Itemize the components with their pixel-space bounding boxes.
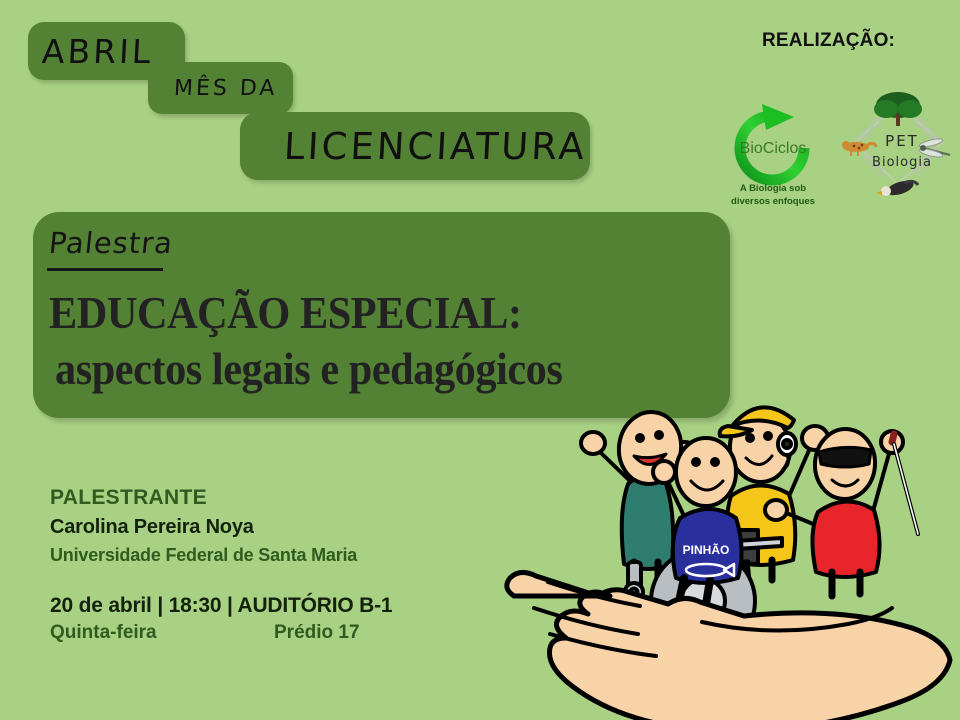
- biociclos-tagline-line2: diversos enfoques: [731, 196, 815, 207]
- pet-biologia-logo: PET Biologia: [838, 88, 958, 198]
- palestrante-section-label: PALESTRANTE: [50, 486, 490, 511]
- illustration-svg: PINHÃO: [488, 386, 960, 720]
- header-tab-mes-da-label: MÊS DA: [147, 76, 278, 101]
- event-detail-row: Quinta-feira Prédio 17: [50, 622, 490, 644]
- bird-icon: [876, 178, 918, 198]
- speaker-info-block: PALESTRANTE Carolina Pereira Noya Univer…: [50, 486, 490, 644]
- event-building: Prédio 17: [274, 622, 360, 644]
- realizacao-label: REALIZAÇÃO:: [762, 30, 895, 52]
- talk-title-line-1: EDUCAÇÃO ESPECIAL:: [49, 286, 522, 339]
- event-weekday: Quinta-feira: [50, 622, 274, 644]
- jaguar-icon: [842, 141, 876, 156]
- biociclos-tagline-line1: A Biologia sob: [740, 183, 806, 194]
- pet-wordmark-line2: Biologia: [872, 155, 932, 170]
- biociclos-logo-svg: BioCiclos A Biologia sob diversos enfoqu…: [718, 96, 828, 211]
- talk-title-line-2: aspectos legais e pedagógicos: [55, 342, 562, 395]
- speaker-organization: Universidade Federal de Santa Maria: [50, 543, 490, 567]
- header-tab-mes-da: MÊS DA: [148, 62, 293, 114]
- speaker-name: Carolina Pereira Noya: [50, 514, 490, 541]
- illustration-hand-holding-people: PINHÃO: [488, 386, 960, 720]
- header-tab-abril-label: ABRIL: [27, 32, 154, 71]
- dark-glasses-icon: [819, 447, 871, 467]
- pet-wordmark-line1: PET: [885, 132, 919, 150]
- white-cane-icon: [892, 434, 918, 534]
- pet-biologia-logo-svg: PET Biologia: [838, 88, 958, 198]
- shirt-text-pinhao: PINHÃO: [683, 542, 730, 557]
- poster-canvas: ABRIL MÊS DA LICENCIATURA REALIZAÇÃO: Bi…: [0, 0, 960, 720]
- palestra-kicker: Palestra: [47, 226, 175, 260]
- header-tab-licenciatura-label: LICENCIATURA: [239, 125, 588, 168]
- biociclos-wordmark: BioCiclos: [740, 140, 807, 157]
- palestra-kicker-underline: [47, 268, 163, 271]
- header-tab-licenciatura: LICENCIATURA: [240, 112, 590, 180]
- event-datetime-location: 20 de abril | 18:30 | AUDITÓRIO B-1: [50, 594, 490, 618]
- biociclos-logo: BioCiclos A Biologia sob diversos enfoqu…: [718, 96, 828, 211]
